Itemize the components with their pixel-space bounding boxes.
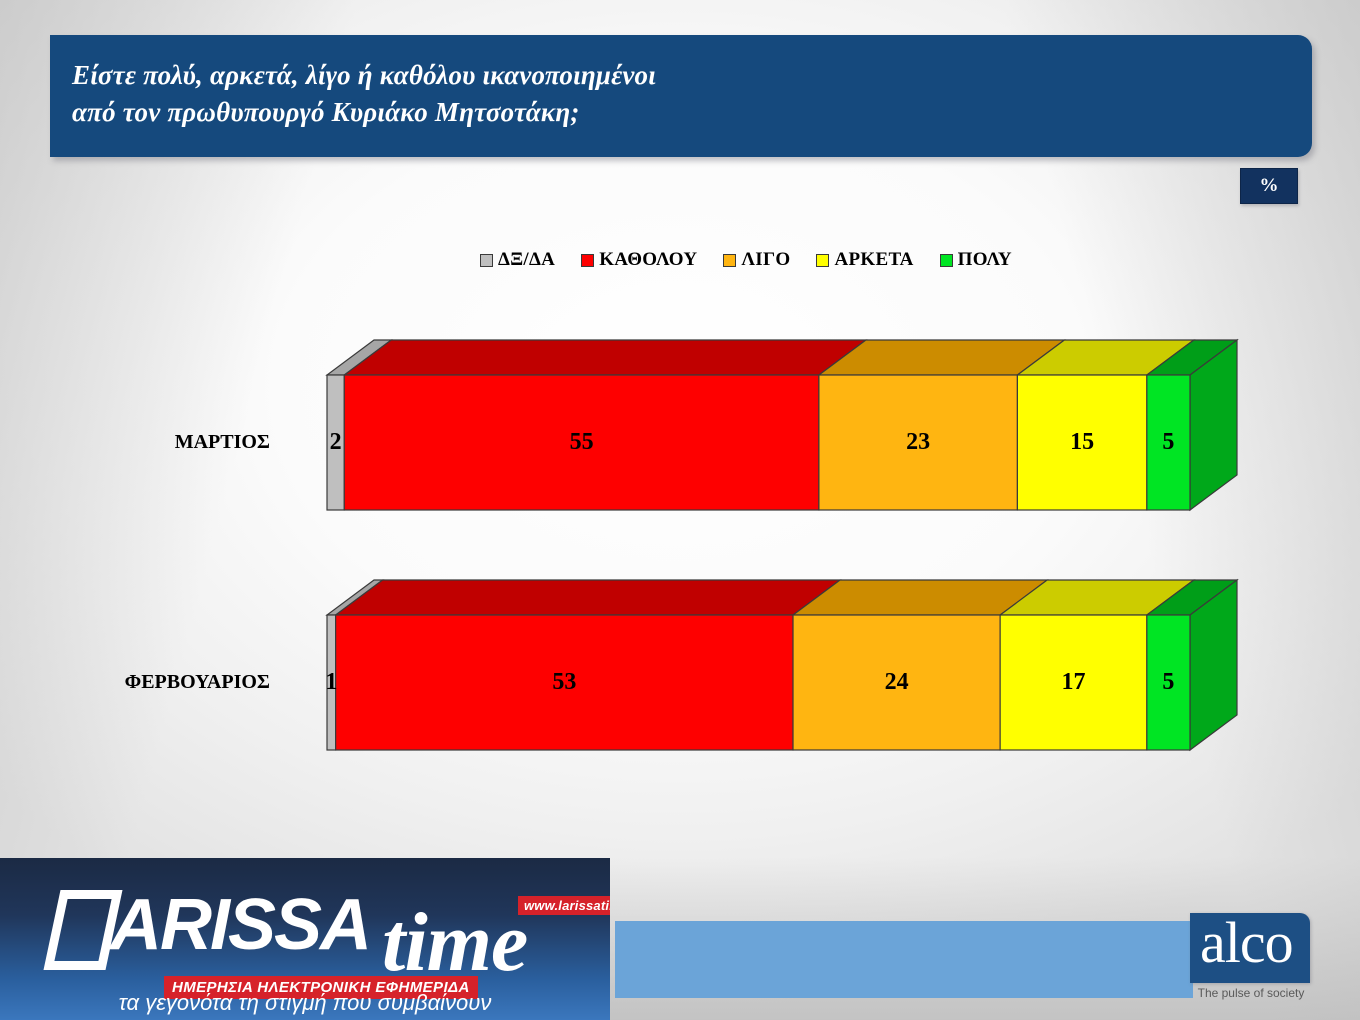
category-label-1: ΦΕΡΒΟΥΑΡΙΟΣ [60,671,270,694]
bar-value-label: 15 [1017,375,1146,510]
legend-item-αρκετα[interactable]: ΑΡΚΕΤΑ [816,249,913,271]
larissatime-logo: ARISSA time www.larissatime.gr ΗΜΕΡΗΣΙΑ … [0,858,610,1020]
legend-label: ΛΙΓΟ [741,249,790,271]
percent-unit-badge: % [1240,168,1298,204]
title-line-2: από τον πρωθυπουργό Κυριάκο Μητσοτάκη; [72,97,580,128]
alco-tagline: The pulse of society [1185,986,1317,1000]
legend-label: ΔΞ/ΔΑ [498,249,555,271]
legend-swatch-icon [816,254,829,267]
alco-logo: alco [1190,913,1310,983]
title-line-1: Είστε πολύ, αρκετά, λίγο ή καθόλου ικανο… [72,60,656,91]
bar-value-label: 53 [336,615,793,750]
legend-swatch-icon [581,254,594,267]
legend-item-λιγο[interactable]: ΛΙΓΟ [723,249,790,271]
legend-label: ΑΡΚΕΤΑ [834,249,913,271]
bar-value-label: 24 [793,615,1000,750]
chart-legend: ΔΞ/ΔΑΚΑΘΟΛΟΥΛΙΓΟΑΡΚΕΤΑΠΟΛΥ [480,248,1012,272]
alco-brand-text: alco [1200,909,1293,976]
bar-value-label: 23 [819,375,1017,510]
logo-brand-text: ARISSA [110,884,370,966]
larissatime-wordmark: ARISSA time www.larissatime.gr ΗΜΕΡΗΣΙΑ … [52,872,597,970]
logo-url-badge: www.larissatime.gr [518,896,610,915]
legend-label: ΠΟΛΥ [958,249,1012,271]
footer-accent-strip [615,921,1193,998]
legend-item-δξ/δα[interactable]: ΔΞ/ΔΑ [480,249,555,271]
bar-value-label: 5 [1147,615,1190,750]
category-label-0: ΜΑΡΤΙΟΣ [60,431,270,454]
bar-value-label: 55 [344,375,819,510]
legend-item-πολυ[interactable]: ΠΟΛΥ [940,249,1012,271]
legend-label: ΚΑΘΟΛΟΥ [599,249,697,271]
legend-swatch-icon [480,254,493,267]
legend-swatch-icon [723,254,736,267]
bar-value-label: 5 [1147,375,1190,510]
bar-value-label: 17 [1000,615,1147,750]
legend-item-καθολου[interactable]: ΚΑΘΟΛΟΥ [581,249,697,271]
logo-tagline: τα γεγονότα τη στιγμή που συμβαίνουν [0,990,610,1016]
legend-swatch-icon [940,254,953,267]
title-banner: Είστε πολύ, αρκετά, λίγο ή καθόλου ικανο… [50,35,1312,157]
